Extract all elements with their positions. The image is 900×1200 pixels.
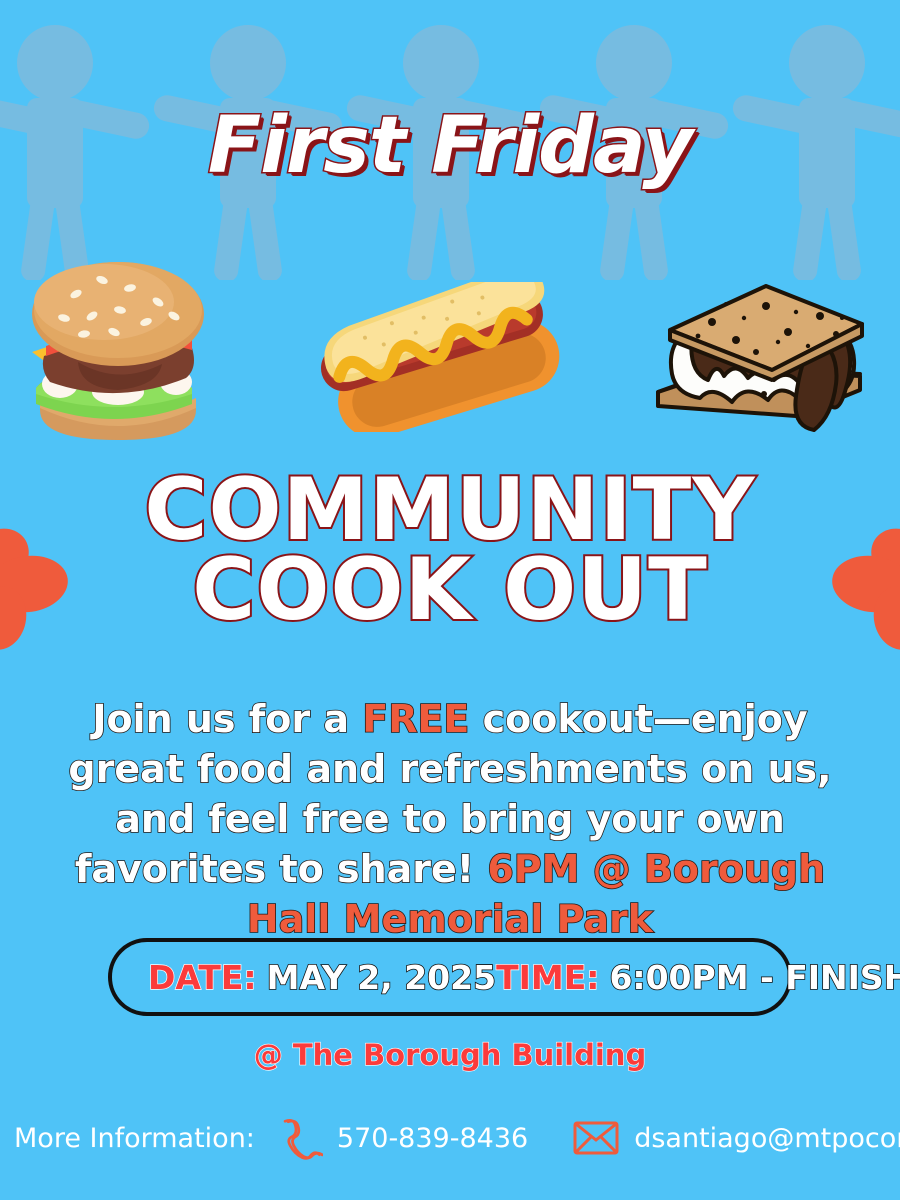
hot-dog-icon [312,282,572,432]
date-label: DATE: [148,958,257,997]
smore-icon [640,274,890,439]
date-group: DATE: MAY 2, 2025 [148,958,496,997]
page-title: COMMUNITY COOK OUT [0,470,900,630]
title-line-2: COOK OUT [0,550,900,630]
email-contact[interactable]: dsantiago@mtpoconoboro.org [572,1118,900,1158]
blurb-part-1: Join us for a [92,697,362,741]
date-time-bar: DATE: MAY 2, 2025 TIME: 6:00PM - FINISH [108,938,792,1016]
food-illustration-row [0,252,900,452]
phone-number: 570-839-8436 [337,1123,528,1154]
envelope-icon [572,1118,620,1158]
date-value: MAY 2, 2025 [267,958,496,997]
time-value: 6:00PM - FINISH [609,958,900,997]
blurb-free-highlight: FREE [362,697,469,741]
venue-line: @ The Borough Building [0,1038,900,1072]
time-group: TIME: 6:00PM - FINISH [496,958,900,997]
more-information-label: More Information: [14,1123,255,1154]
phone-contact[interactable]: 570-839-8436 [281,1116,528,1160]
hamburger-icon [18,260,218,450]
event-series-headline: First Friday [0,104,900,188]
flyer-poster: First Friday [0,0,900,1200]
phone-icon [281,1116,323,1160]
time-label: TIME: [496,958,599,997]
title-line-1: COMMUNITY [0,470,900,550]
event-description: Join us for a FREE cookout—enjoy great f… [40,694,860,944]
email-address: dsantiago@mtpoconoboro.org [634,1123,900,1154]
contact-footer: More Information: 570-839-8436 dsantiago… [14,1108,894,1168]
